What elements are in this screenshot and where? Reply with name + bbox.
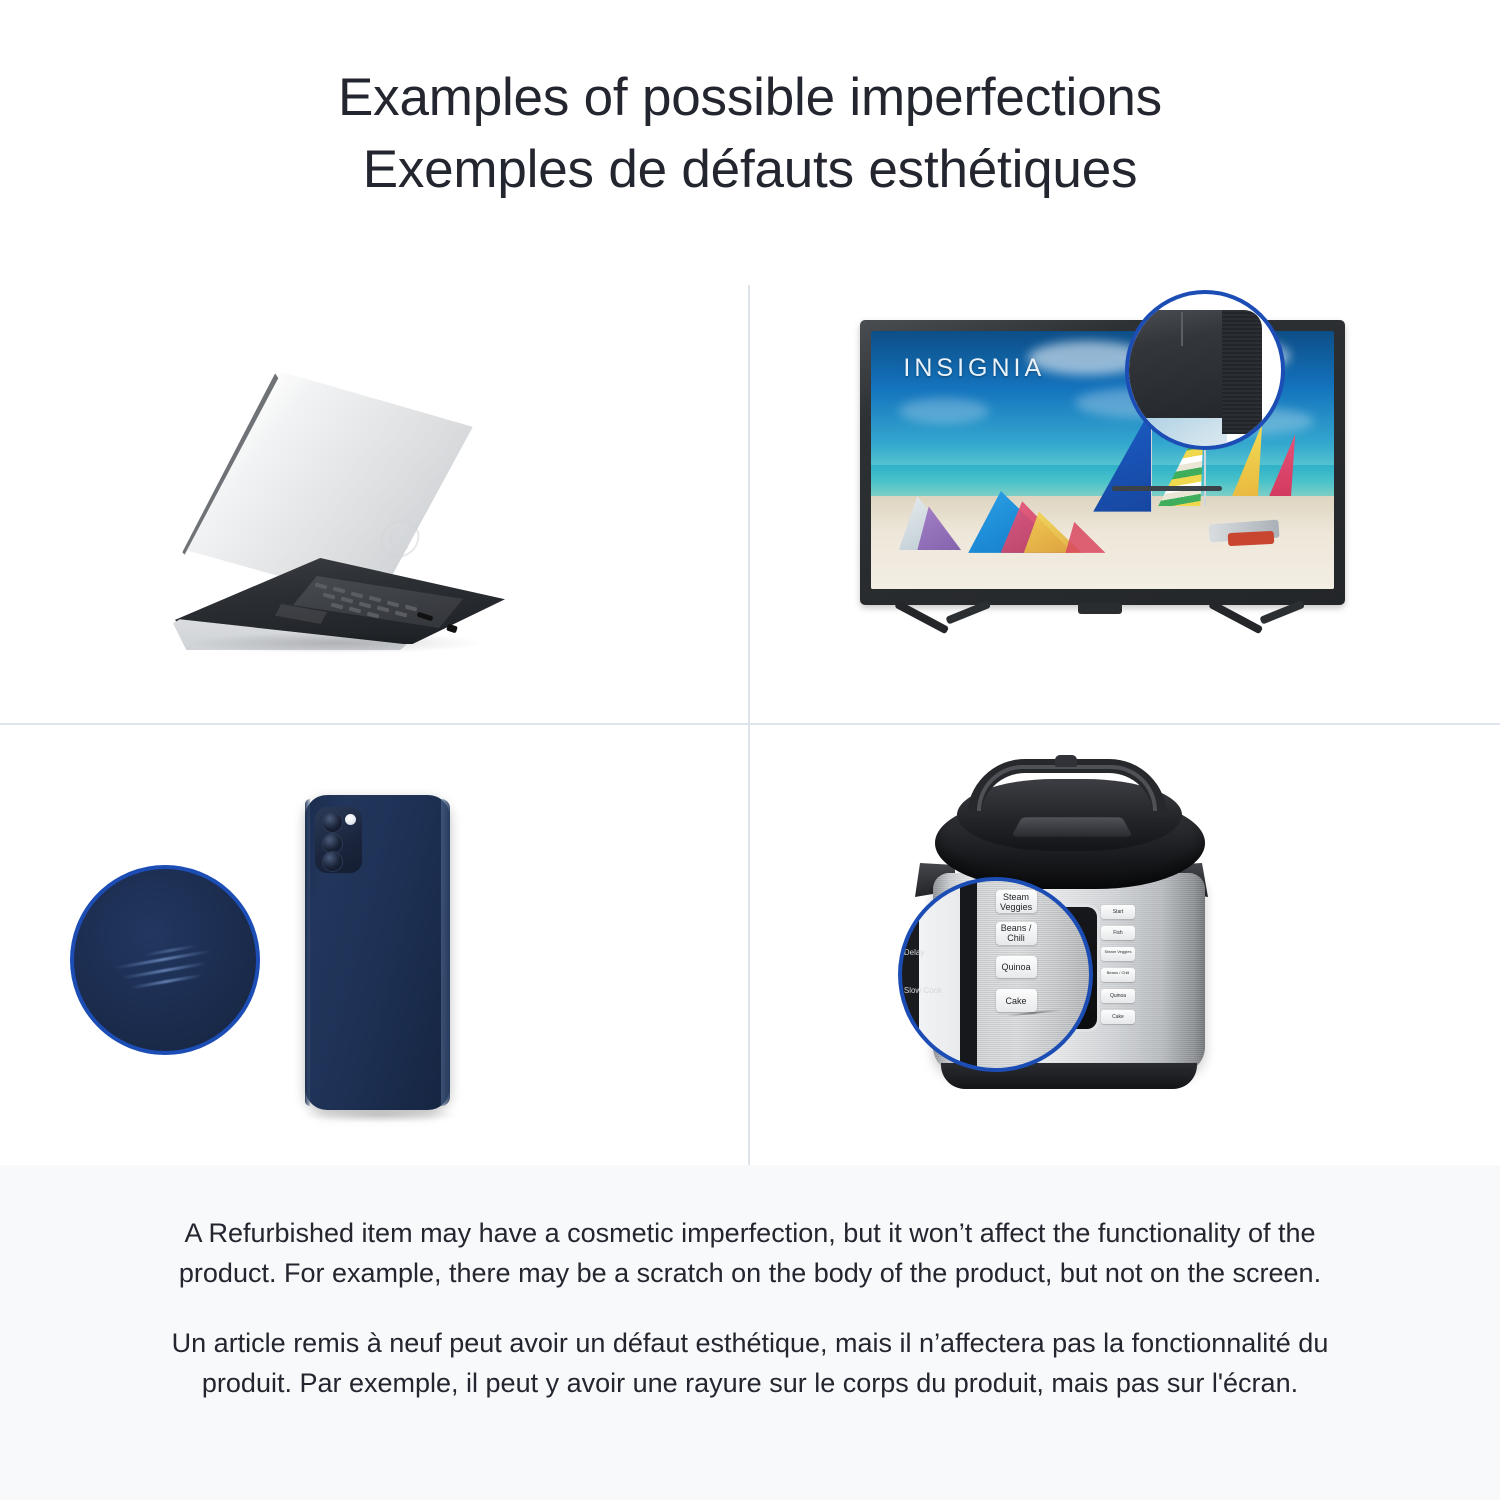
magnifier-circle-pressure-cooker: Steam Veggies Beans / Chili Quinoa Cake … — [898, 877, 1093, 1072]
laptop-shadow — [185, 632, 485, 654]
camera-lens-icon — [322, 851, 343, 872]
page-title-en: Examples of possible imperfections — [0, 62, 1500, 134]
panel-tv: INSIGNIA — [750, 285, 1500, 725]
panel-phone — [0, 725, 750, 1165]
tv-image: INSIGNIA — [860, 320, 1365, 650]
cooker-key-steamveggies[interactable]: Steam Veggies — [1101, 947, 1135, 961]
camera-lens-icon — [322, 812, 343, 833]
cooker-right-keys: Start Fish Steam Veggies Beans / Chili Q… — [1101, 905, 1135, 1031]
examples-grid: INSIGNIA — [0, 285, 1500, 1165]
magnified-label-slowcook: Slow Cook — [904, 986, 942, 995]
magnifier-circle-tv — [1125, 290, 1285, 450]
laptop-image — [175, 380, 535, 660]
tv-center-nub — [1078, 603, 1122, 614]
magnified-key-cake: Cake — [996, 989, 1037, 1011]
camera-flash-icon — [345, 814, 356, 825]
phone-body — [305, 795, 450, 1110]
disclaimer-fr: Un article remis à neuf peut avoir un dé… — [150, 1323, 1350, 1403]
magnified-bezel-side — [1222, 310, 1262, 434]
page-title-fr: Exemples de défauts esthétiques — [0, 134, 1500, 206]
page-header: Examples of possible imperfections Exemp… — [0, 0, 1500, 206]
phone-edge-right — [441, 799, 450, 1106]
cooker-key-quinoa[interactable]: Quinoa — [1101, 989, 1135, 1003]
cooker-steam-valve — [1055, 755, 1077, 767]
phone-shadow — [300, 1107, 460, 1123]
footer-disclaimer: A Refurbished item may have a cosmetic i… — [0, 1165, 1500, 1500]
cooker-key-cake[interactable]: Cake — [1101, 1010, 1135, 1024]
tv-stand-right — [1212, 600, 1302, 644]
tv-screen-logo: INSIGNIA — [903, 354, 1045, 383]
magnified-key-beanschili: Beans / Chili — [996, 922, 1037, 944]
phone-camera-module — [315, 807, 362, 873]
phone-edge-left — [305, 799, 310, 1106]
cooker-key-fish[interactable]: Fish — [1101, 926, 1135, 940]
panel-laptop — [0, 285, 750, 725]
magnified-bezel-seam — [1181, 312, 1183, 346]
cooker-lid-handle-highlight — [977, 765, 1157, 811]
magnifier-circle-phone — [70, 865, 260, 1055]
magnified-key-steamveggies: Steam Veggies — [996, 890, 1037, 912]
tv-stand-left — [898, 600, 988, 644]
magnified-key-quinoa: Quinoa — [996, 956, 1037, 978]
phone-image — [250, 795, 500, 1135]
magnified-label-delay: Delay — [904, 948, 924, 957]
cooker-key-beanschili[interactable]: Beans / Chili — [1101, 968, 1135, 982]
cooker-key-start[interactable]: Start — [1101, 905, 1135, 919]
cooker-lid-panel — [1011, 817, 1133, 837]
panel-pressure-cooker: INSIGNIA 8:00 Less Normal More 8:00 MEAT… — [750, 725, 1500, 1165]
disclaimer-en: A Refurbished item may have a cosmetic i… — [150, 1213, 1350, 1293]
